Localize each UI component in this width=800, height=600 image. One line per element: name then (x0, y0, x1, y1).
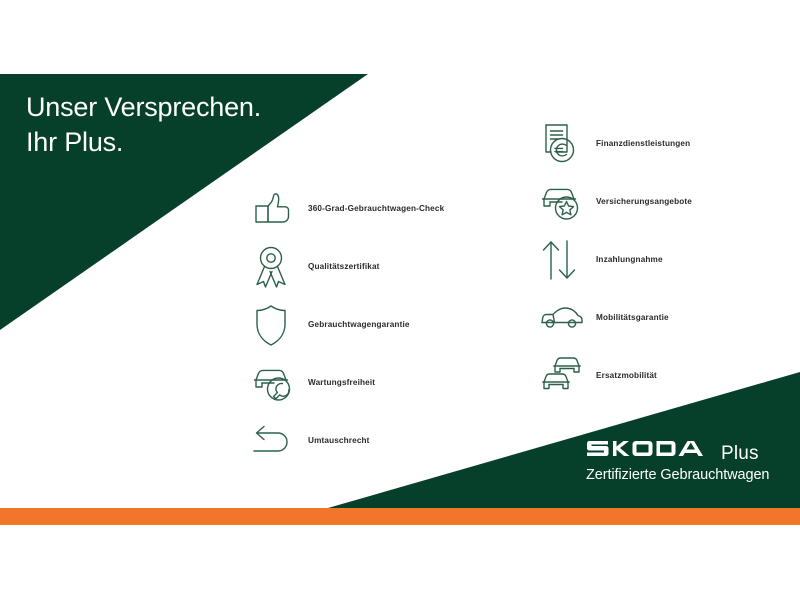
feature-item: Mobilitätsgarantie (540, 289, 790, 347)
orange-accent-bar (0, 508, 800, 525)
skoda-plus-logo: Plus Zertifizierte Gebrauchtwagen (586, 437, 786, 484)
feature-label: 360-Grad-Gebrauchtwagen-Check (308, 204, 444, 214)
car-star-icon (540, 178, 596, 226)
feature-item: Wartungsfreiheit (252, 354, 502, 412)
feature-list-left: 360-Grad-Gebrauchtwagen-Check Qualitätsz… (252, 180, 502, 470)
logo-plus-text: Plus (721, 444, 759, 463)
quality-rosette-icon (252, 243, 308, 291)
feature-label: Qualitätszertifikat (308, 262, 380, 272)
feature-item: Qualitätszertifikat (252, 238, 502, 296)
shield-icon (252, 301, 308, 349)
feature-item: 360-Grad-Gebrauchtwagen-Check (252, 180, 502, 238)
document-euro-icon (540, 120, 596, 168)
feature-label: Ersatzmobilität (596, 371, 657, 381)
feature-label: Gebrauchtwagengarantie (308, 320, 410, 330)
feature-item: Gebrauchtwagengarantie (252, 296, 502, 354)
skoda-wordmark-icon (586, 437, 714, 459)
two-cars-icon (540, 352, 596, 400)
feature-item: Ersatzmobilität (540, 347, 790, 405)
up-down-arrows-icon (540, 236, 596, 284)
feature-label: Mobilitätsgarantie (596, 313, 669, 323)
feature-item: Versicherungsangebote (540, 173, 790, 231)
headline-line-2: Ihr Plus. (26, 127, 123, 157)
car-wrench-icon (252, 359, 308, 407)
headline-line-1: Unser Versprechen. (26, 92, 261, 122)
feature-label: Versicherungsangebote (596, 197, 692, 207)
feature-item: Umtauschrecht (252, 412, 502, 470)
feature-label: Umtauschrecht (308, 436, 370, 446)
feature-label: Finanzdienstleistungen (596, 139, 690, 149)
promo-banner: Unser Versprechen.Ihr Plus. 360-Grad-Geb… (0, 0, 800, 600)
feature-list-right: Finanzdienstleistungen Versicherungsange… (540, 115, 790, 405)
headline: Unser Versprechen.Ihr Plus. (26, 90, 356, 159)
feature-item: Inzahlungnahme (540, 231, 790, 289)
return-arrow-icon (252, 417, 308, 465)
feature-label: Wartungsfreiheit (308, 378, 375, 388)
thumbs-up-icon (252, 185, 308, 233)
logo-subtitle: Zertifizierte Gebrauchtwagen (586, 468, 786, 484)
feature-label: Inzahlungnahme (596, 255, 663, 265)
feature-item: Finanzdienstleistungen (540, 115, 790, 173)
car-side-icon (540, 294, 596, 342)
